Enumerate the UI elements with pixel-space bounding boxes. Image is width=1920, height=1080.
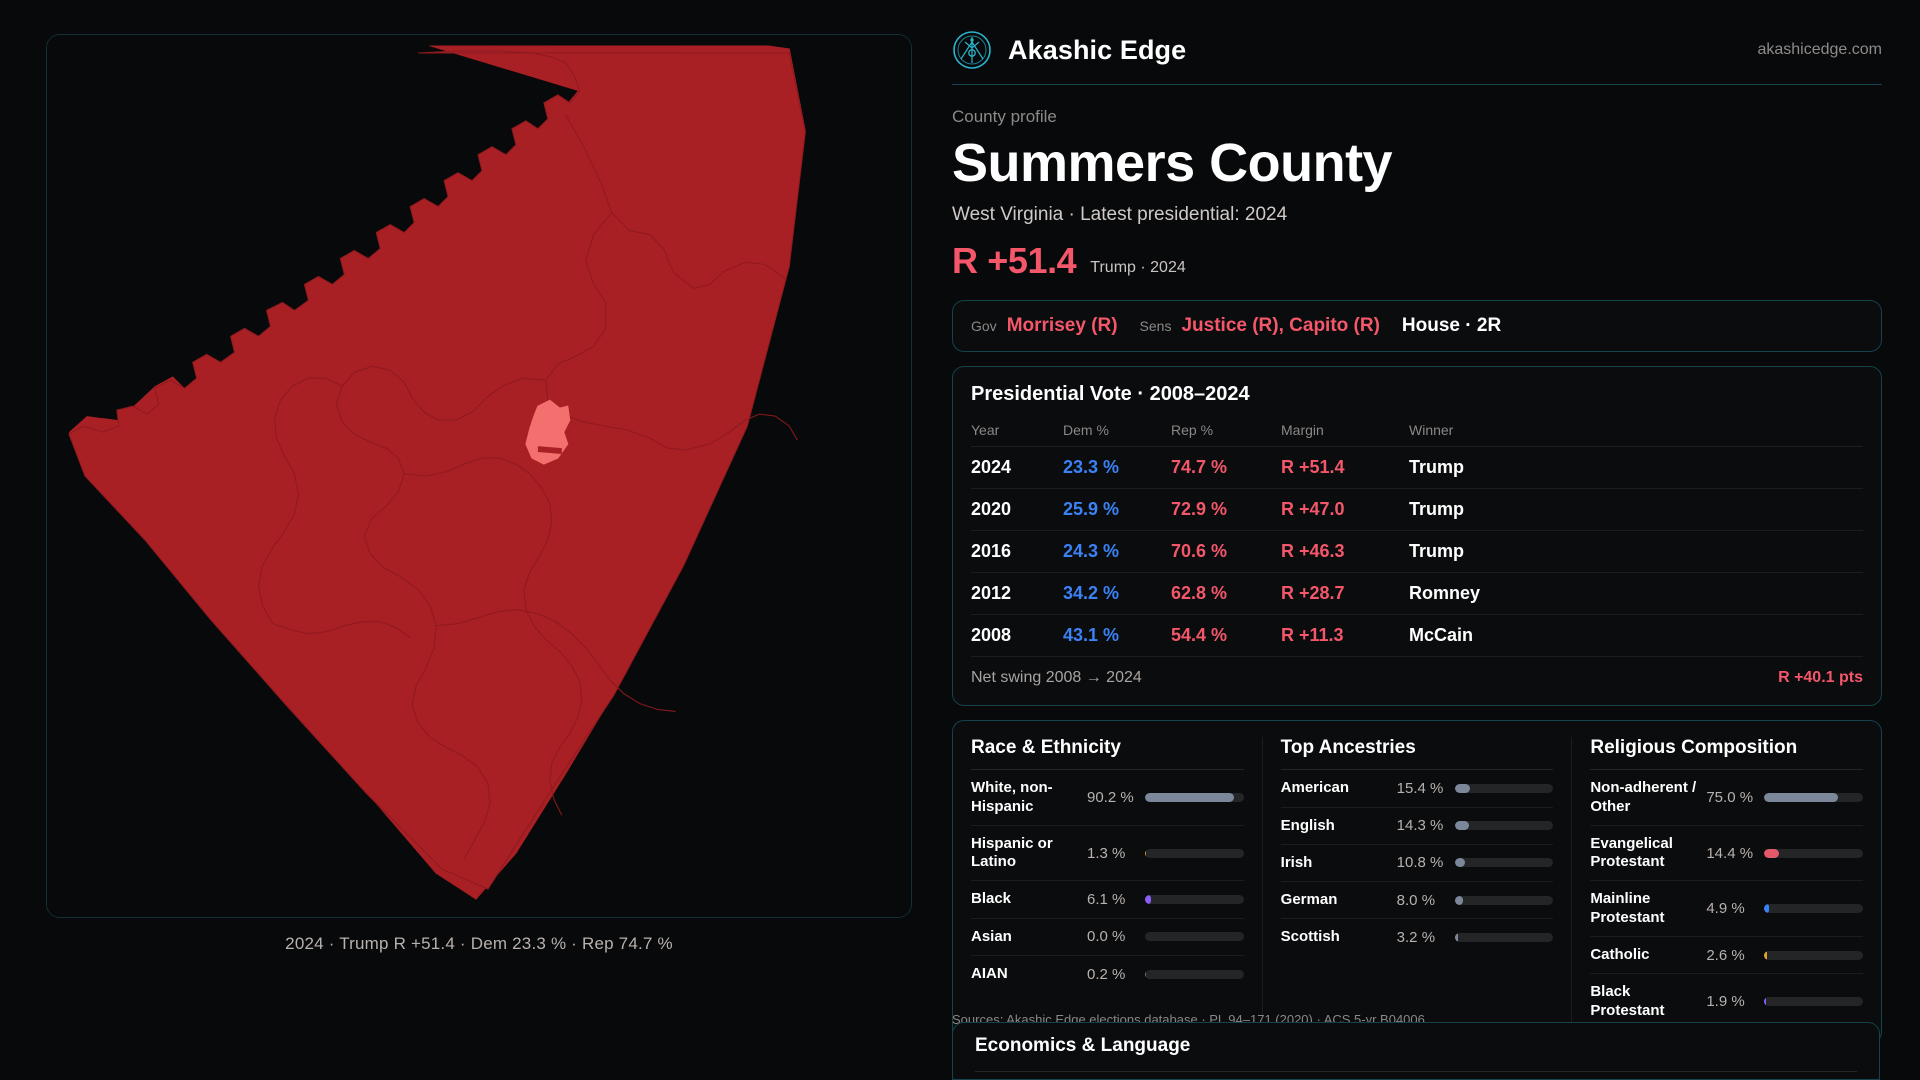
cell-year: 2016 [971,531,1063,573]
bar-track [1455,933,1554,942]
list-item: German8.0 % [1281,882,1554,919]
category-value: 15.4 % [1397,780,1455,797]
category-value: 3.2 % [1397,929,1455,946]
category-value: 75.0 % [1706,789,1764,806]
cell-margin: R +51.4 [1281,447,1409,489]
list-item: Evangelical Protestant14.4 % [1590,826,1863,882]
category-value: 14.3 % [1397,817,1455,834]
bar-track [1455,858,1554,867]
category-label: AIAN [971,965,1087,983]
category-value: 2.6 % [1706,947,1764,964]
map-pane: 2024 · Trump R +51.4 · Dem 23.3 % · Rep … [0,0,940,1080]
bar-track [1145,849,1244,858]
list-item: American15.4 % [1281,770,1554,807]
cell-margin: R +46.3 [1281,531,1409,573]
panel-rows: Non-adherent / Other75.0 %Evangelical Pr… [1590,770,1863,1029]
cell-rep: 62.8 % [1171,573,1281,615]
list-item: Irish10.8 % [1281,845,1554,882]
bar-track [1764,793,1863,802]
economics-language-title: Economics & Language [975,1035,1857,1057]
category-value: 6.1 % [1087,891,1145,908]
category-label: Mainline Protestant [1590,890,1706,927]
list-item: Non-adherent / Other75.0 % [1590,770,1863,826]
bar-track [1145,895,1244,904]
cell-dem: 25.9 % [1063,489,1171,531]
category-label: Catholic [1590,946,1706,964]
list-item: Catholic2.6 % [1590,937,1863,974]
cell-margin: R +28.7 [1281,573,1409,615]
cell-dem: 24.3 % [1063,531,1171,573]
panel-top-ancestries: Top Ancestries American15.4 %English14.3… [1262,737,1572,1029]
headline-margin-value: R +51.4 [952,240,1076,282]
page-eyebrow: County profile [952,107,1882,127]
list-item: Hispanic or Latino1.3 % [971,826,1244,882]
col-year: Year [971,416,1063,447]
table-row[interactable]: 202025.9 %72.9 %R +47.0Trump [971,489,1863,531]
bar-fill [1764,849,1778,858]
county-map[interactable] [46,34,912,918]
category-label: Hispanic or Latino [971,835,1087,872]
sens-label: Sens [1140,318,1172,334]
bar-fill [1455,858,1466,867]
bar-track [1764,849,1863,858]
category-label: German [1281,891,1397,909]
category-label: Non-adherent / Other [1590,779,1706,816]
brand-name: Akashic Edge [1008,35,1186,66]
cell-rep: 74.7 % [1171,447,1281,489]
bar-track [1145,793,1244,802]
bar-track [1764,997,1863,1006]
col-dem: Dem % [1063,416,1171,447]
category-label: English [1281,817,1397,835]
economics-language-card: Economics & Language Median HH income Po… [952,1022,1880,1080]
cell-rep: 72.9 % [1171,489,1281,531]
list-item: English14.3 % [1281,808,1554,845]
panel-title: Religious Composition [1590,737,1863,770]
table-row[interactable]: 201624.3 %70.6 %R +46.3Trump [971,531,1863,573]
panel-title: Race & Ethnicity [971,737,1244,770]
panel-rows: White, non-Hispanic90.2 %Hispanic or Lat… [971,770,1244,992]
presidential-vote-table: Year Dem % Rep % Margin Winner 202423.3 … [971,416,1863,657]
bar-fill [1764,951,1767,960]
category-value: 4.9 % [1706,900,1764,917]
category-label: Black [971,890,1087,908]
gov-value: Morrisey (R) [1007,315,1118,337]
cell-winner: Trump [1409,531,1863,573]
category-value: 14.4 % [1706,845,1764,862]
cell-dem: 23.3 % [1063,447,1171,489]
bar-fill [1764,997,1766,1006]
list-item: AIAN0.2 % [971,956,1244,992]
bar-fill [1455,821,1469,830]
category-value: 0.2 % [1087,966,1145,983]
bar-fill [1145,895,1151,904]
bar-fill [1764,793,1838,802]
bar-track [1455,784,1554,793]
category-label: Asian [971,928,1087,946]
list-item: Mainline Protestant4.9 % [1590,881,1863,937]
gov-label: Gov [971,318,997,334]
bar-track [1145,970,1244,979]
bar-track [1455,821,1554,830]
cell-year: 2020 [971,489,1063,531]
list-item: White, non-Hispanic90.2 % [971,770,1244,826]
category-label: Irish [1281,854,1397,872]
cell-margin: R +47.0 [1281,489,1409,531]
demographics-card: Race & Ethnicity White, non-Hispanic90.2… [952,720,1882,1044]
presidential-vote-title: Presidential Vote · 2008–2024 [971,383,1863,406]
brand-site: akashicedge.com [1757,41,1882,59]
cell-year: 2008 [971,615,1063,657]
cell-rep: 70.6 % [1171,531,1281,573]
cell-winner: McCain [1409,615,1863,657]
category-value: 90.2 % [1087,789,1145,806]
bar-fill [1455,896,1463,905]
panel-title: Top Ancestries [1281,737,1554,770]
bar-track [1764,951,1863,960]
table-row[interactable]: 200843.1 %54.4 %R +11.3McCain [971,615,1863,657]
category-value: 10.8 % [1397,854,1455,871]
col-rep: Rep % [1171,416,1281,447]
panel-race-ethnicity: Race & Ethnicity White, non-Hispanic90.2… [953,737,1262,1029]
col-margin: Margin [1281,416,1409,447]
house-value: House · 2R [1402,315,1501,337]
presidential-vote-body: 202423.3 %74.7 %R +51.4Trump202025.9 %72… [971,447,1863,657]
presidential-vote-card: Presidential Vote · 2008–2024 Year Dem %… [952,366,1882,706]
bar-fill [1455,784,1470,793]
category-label: American [1281,779,1397,797]
cell-year: 2024 [971,447,1063,489]
cell-dem: 34.2 % [1063,573,1171,615]
panel-rows: American15.4 %English14.3 %Irish10.8 %Ge… [1281,770,1554,955]
cell-margin: R +11.3 [1281,615,1409,657]
bar-track [1455,896,1554,905]
category-label: White, non-Hispanic [971,779,1087,816]
table-header-row: Year Dem % Rep % Margin Winner [971,416,1863,447]
offices-card: Gov Morrisey (R) Sens Justice (R), Capit… [952,300,1882,352]
col-winner: Winner [1409,416,1863,447]
map-caption: 2024 · Trump R +51.4 · Dem 23.3 % · Rep … [46,934,912,954]
list-item: Scottish3.2 % [1281,919,1554,955]
table-row[interactable]: 201234.2 %62.8 %R +28.7Romney [971,573,1863,615]
cell-winner: Romney [1409,573,1863,615]
net-swing-label: Net swing 2008 → 2024 [971,669,1142,687]
akashic-emblem-icon [952,30,992,70]
cell-winner: Trump [1409,447,1863,489]
bar-fill [1455,933,1458,942]
net-swing-value: R +40.1 pts [1778,669,1863,687]
bar-track [1145,932,1244,941]
cell-dem: 43.1 % [1063,615,1171,657]
info-pane: Akashic Edge akashicedge.com County prof… [940,0,1920,1080]
county-profile-app: 2024 · Trump R +51.4 · Dem 23.3 % · Rep … [0,0,1920,1080]
category-label: Scottish [1281,928,1397,946]
bar-fill [1145,849,1146,858]
category-value: 0.0 % [1087,928,1145,945]
bar-fill [1145,793,1234,802]
panel-religious-composition: Religious Composition Non-adherent / Oth… [1571,737,1881,1029]
category-value: 1.3 % [1087,845,1145,862]
list-item: Black6.1 % [971,881,1244,918]
sens-value: Justice (R), Capito (R) [1181,315,1379,337]
cell-rep: 54.4 % [1171,615,1281,657]
page-subtitle: West Virginia · Latest presidential: 202… [952,204,1882,226]
bar-track [1764,904,1863,913]
brand-bar: Akashic Edge akashicedge.com [952,30,1882,85]
page-title: Summers County [952,135,1882,192]
category-label: Evangelical Protestant [1590,835,1706,872]
category-value: 8.0 % [1397,892,1455,909]
cell-year: 2012 [971,573,1063,615]
table-row[interactable]: 202423.3 %74.7 %R +51.4Trump [971,447,1863,489]
bar-fill [1764,904,1769,913]
headline-margin: R +51.4 Trump · 2024 [952,240,1882,282]
economics-language-headers: Median HH income Poverty rate English at… [975,1071,1857,1080]
cell-winner: Trump [1409,489,1863,531]
list-item: Asian0.0 % [971,919,1244,956]
headline-margin-note: Trump · 2024 [1090,259,1185,277]
category-value: 1.9 % [1706,993,1764,1010]
county-map-svg [47,35,911,917]
net-swing-row: Net swing 2008 → 2024 R +40.1 pts [971,657,1863,695]
